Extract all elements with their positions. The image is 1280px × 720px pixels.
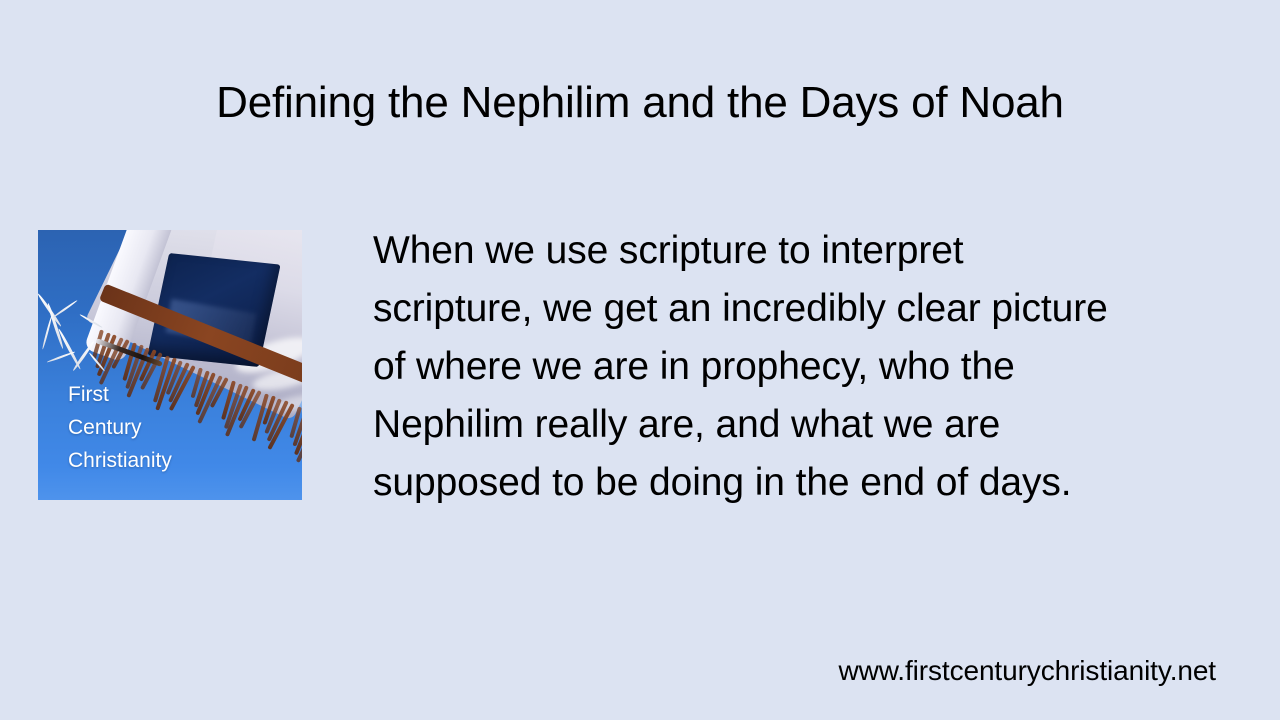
slide-title: Defining the Nephilim and the Days of No… xyxy=(60,78,1220,129)
tzitzit-string-icon xyxy=(47,351,76,363)
logo-caption-line-3: Christianity xyxy=(68,444,172,477)
logo-caption-line-2: Century xyxy=(68,411,172,444)
footer-website-url: www.firstcenturychristianity.net xyxy=(838,655,1216,687)
logo-caption-line-1: First xyxy=(68,378,172,411)
body-line: Nephilim really are, and what we are xyxy=(373,396,1223,454)
logo-caption: First Century Christianity xyxy=(68,378,172,477)
tzitzit-string-icon xyxy=(42,316,53,349)
body-line: When we use scripture to interpret xyxy=(373,222,1223,280)
body-line: of where we are in prophecy, who the xyxy=(373,338,1223,396)
body-line: scripture, we get an incredibly clear pi… xyxy=(373,280,1223,338)
body-line: supposed to be doing in the end of days. xyxy=(373,454,1223,512)
slide-body-text: When we use scripture to interpret scrip… xyxy=(373,222,1223,512)
logo-image: First Century Christianity xyxy=(38,230,302,500)
presentation-slide: Defining the Nephilim and the Days of No… xyxy=(0,0,1280,720)
tzitzit-string-icon xyxy=(52,300,78,319)
